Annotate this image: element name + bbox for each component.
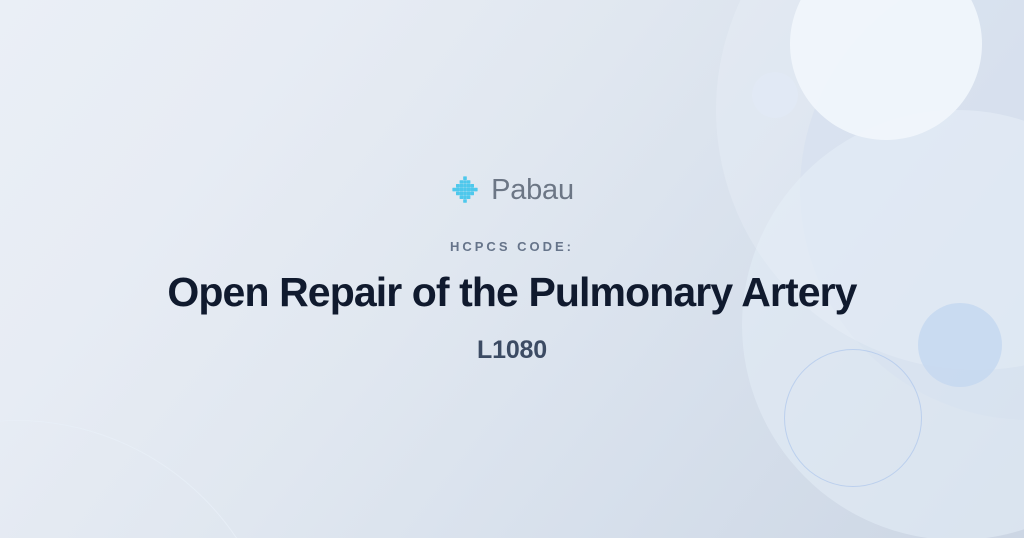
hcpcs-code-card: Pabau HCPCS CODE: Open Repair of the Pul…	[0, 0, 1024, 538]
card-content: Pabau HCPCS CODE: Open Repair of the Pul…	[0, 0, 1024, 538]
eyebrow-label: HCPCS CODE:	[450, 240, 574, 253]
brand-name: Pabau	[491, 176, 574, 205]
pabau-diamond-logo-icon	[450, 175, 480, 205]
page-title: Open Repair of the Pulmonary Artery	[167, 270, 856, 314]
brand-lockup: Pabau	[450, 175, 574, 205]
hcpcs-code-value: L1080	[477, 338, 547, 363]
